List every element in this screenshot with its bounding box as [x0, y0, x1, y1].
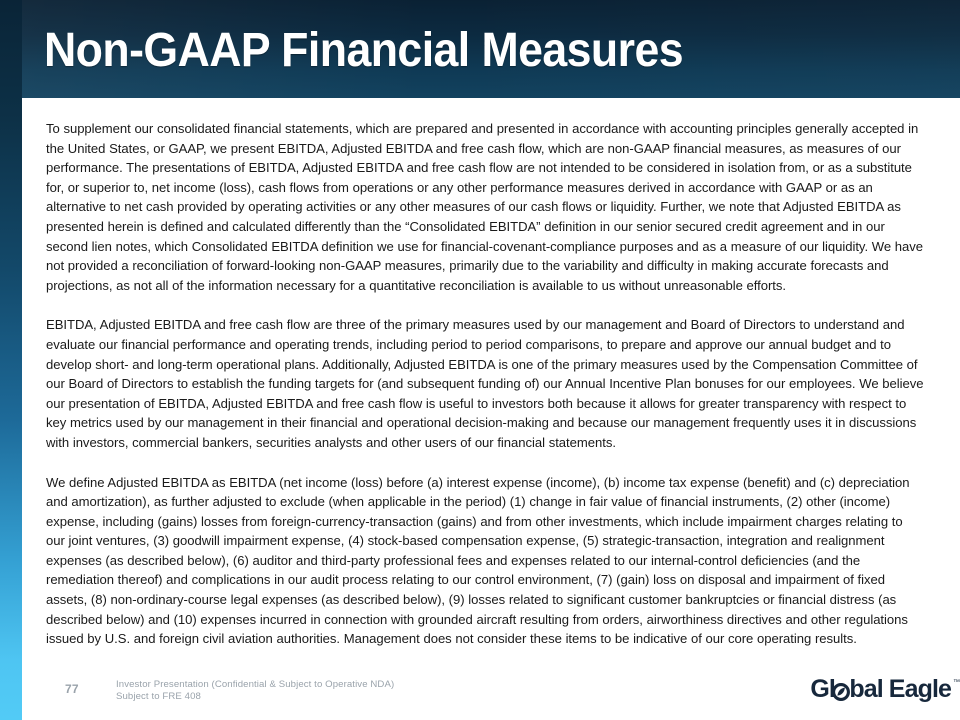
logo-word-part-2: bal Eagle	[849, 675, 951, 703]
footer-note-line-2: Subject to FRE 408	[116, 691, 394, 703]
logo-wordmark: Global Eagle	[810, 676, 951, 702]
footer-confidentiality-note: Investor Presentation (Confidential & Su…	[116, 679, 394, 704]
body-copy: To supplement our consolidated financial…	[46, 119, 924, 649]
slide-non-gaap-financial-measures: Non-GAAP Financial Measures To supplemen…	[0, 0, 960, 720]
logo-trademark: ™	[953, 678, 960, 687]
slide-footer: 77 Investor Presentation (Confidential &…	[44, 664, 960, 720]
left-accent-rail	[0, 0, 22, 720]
page-number: 77	[65, 682, 79, 696]
global-eagle-logo: Global Eagle ™	[810, 676, 960, 702]
paragraph-1: To supplement our consolidated financial…	[46, 119, 924, 295]
footer-note-line-1: Investor Presentation (Confidential & Su…	[116, 679, 394, 691]
content-panel: To supplement our consolidated financial…	[22, 98, 960, 720]
logo-word-part-1: Gl	[810, 675, 835, 703]
paragraph-2: EBITDA, Adjusted EBITDA and free cash fl…	[46, 315, 924, 452]
paragraph-3: We define Adjusted EBITDA as EBITDA (net…	[46, 473, 924, 649]
page-title: Non-GAAP Financial Measures	[44, 22, 683, 80]
